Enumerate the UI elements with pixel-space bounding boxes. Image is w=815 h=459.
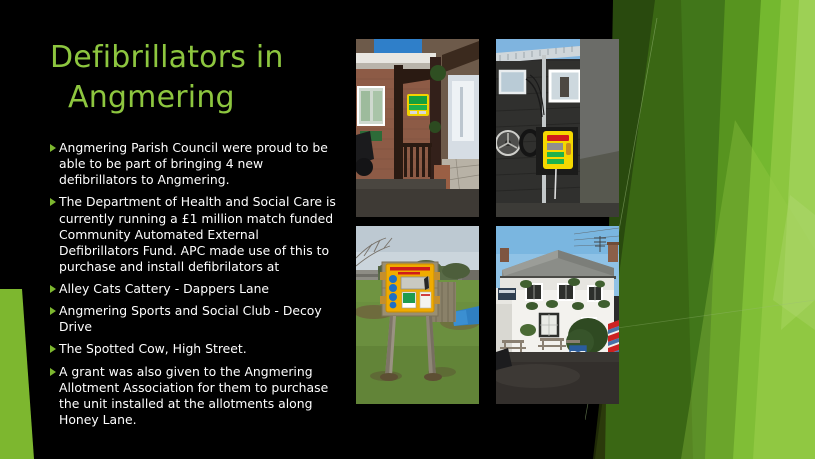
triangle-bullet-icon — [50, 368, 56, 376]
polygon-hairline-2 — [603, 300, 815, 330]
polygon-dark-olive-2 — [643, 0, 755, 459]
photo-porch-defibrillator — [356, 39, 479, 217]
polygon-overlay-b — [773, 195, 815, 330]
bullet-text: Angmering Sports and Social Club - Decoy… — [59, 303, 322, 334]
polygon-forest-green-2 — [681, 0, 790, 459]
polygon-lime-green — [753, 0, 815, 459]
list-item: Angmering Sports and Social Club - Decoy… — [50, 303, 342, 335]
bullet-list: Angmering Parish Council were proud to b… — [50, 140, 342, 434]
triangle-bullet-icon — [50, 198, 56, 206]
polygon-pale-lime — [781, 0, 815, 330]
bullet-text: Alley Cats Cattery - Dappers Lane — [59, 281, 269, 296]
page-title: Defibrillators inAngmering — [50, 38, 350, 118]
title-line-1: Defibrillators in — [50, 40, 284, 75]
polygon-bright-green — [733, 0, 815, 459]
list-item: The Department of Health and Social Care… — [50, 194, 342, 275]
triangle-bullet-icon — [50, 144, 56, 152]
list-item: The Spotted Cow, High Street. — [50, 341, 342, 357]
list-item: A grant was also given to the Angmering … — [50, 364, 342, 429]
polygon-corner-wedge — [0, 289, 34, 459]
bullet-text: The Department of Health and Social Care… — [59, 194, 336, 274]
title-line-2: Angmering — [50, 78, 350, 118]
slide-canvas: Defibrillators inAngmering Angmering Par… — [0, 0, 815, 459]
polygon-mid-green — [705, 0, 815, 459]
bullet-text: A grant was also given to the Angmering … — [59, 364, 328, 427]
photo-spotted-cow-pub — [496, 226, 619, 404]
photo-allotment-defibrillator — [356, 226, 479, 404]
triangle-bullet-icon — [50, 307, 56, 315]
photo-clubhouse-defibrillator — [496, 39, 619, 217]
bullet-text: Angmering Parish Council were proud to b… — [59, 140, 328, 187]
decorative-green-polygons-right — [585, 0, 815, 459]
polygon-forest-green — [605, 0, 737, 459]
bullet-text: The Spotted Cow, High Street. — [59, 341, 247, 356]
list-item: Angmering Parish Council were proud to b… — [50, 140, 342, 188]
triangle-bullet-icon — [50, 345, 56, 353]
triangle-bullet-icon — [50, 285, 56, 293]
polygon-overlay-a — [681, 120, 815, 459]
list-item: Alley Cats Cattery - Dappers Lane — [50, 281, 342, 297]
